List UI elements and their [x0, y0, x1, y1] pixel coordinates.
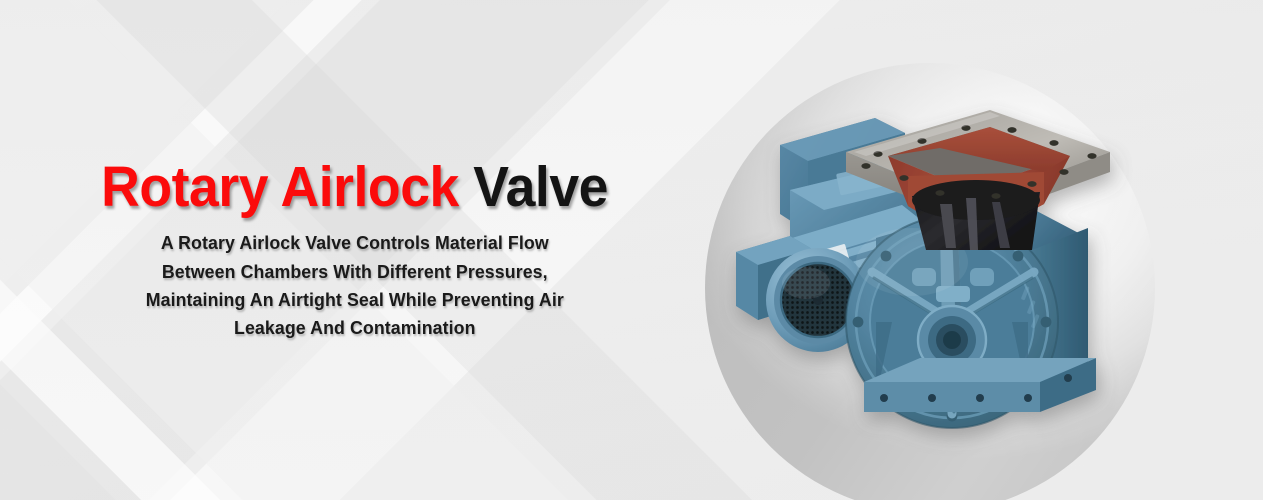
product-showcase: Rotary Airlock Valve with blue cast body…: [640, 0, 1263, 500]
hero-banner: Rotary Airlock Valve A Rotary Airlock Va…: [0, 0, 1263, 500]
rotary-airlock-valve-image: [640, 0, 1263, 500]
rotor-vanes: [940, 198, 1010, 250]
hero-text-column: Rotary Airlock Valve A Rotary Airlock Va…: [0, 0, 700, 500]
page-title: Rotary Airlock Valve: [102, 158, 609, 217]
subtitle-line-4: Leakage And Contamination: [146, 314, 564, 342]
title-accent-text: Rotary Airlock: [102, 155, 460, 219]
title-plain-text: Valve: [459, 155, 608, 219]
subtitle-line-1: A Rotary Airlock Valve Controls Material…: [146, 229, 564, 257]
valve-assembly: [736, 110, 1110, 428]
subtitle-line-2: Between Chambers With Different Pressure…: [146, 258, 564, 286]
page-subtitle: A Rotary Airlock Valve Controls Material…: [146, 229, 564, 341]
subtitle-line-3: Maintaining An Airtight Seal While Preve…: [146, 286, 564, 314]
